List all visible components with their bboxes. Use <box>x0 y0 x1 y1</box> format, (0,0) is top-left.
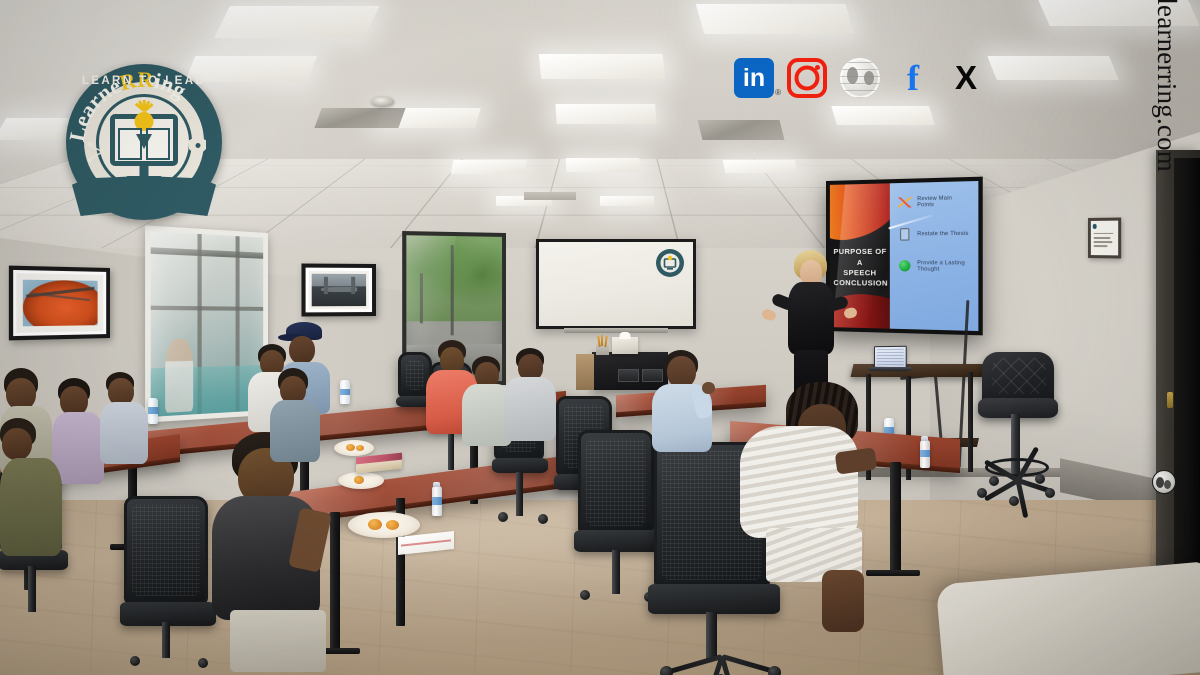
chart-icon <box>899 195 912 209</box>
bottle-cap <box>433 482 440 487</box>
aircraft-rotor <box>324 277 328 294</box>
slide-graphic-swoosh <box>830 183 890 245</box>
presenter <box>770 250 850 400</box>
ceiling-air-diffuser <box>524 192 576 200</box>
ceiling-light-panel <box>723 160 798 173</box>
linkedin-icon[interactable]: in ® <box>734 58 774 98</box>
chair-cylinder <box>612 550 620 594</box>
slide-bullet-text: Provide a Lasting Thought <box>917 260 971 273</box>
cabinet-side-panel <box>576 354 594 390</box>
student-hand <box>702 382 715 394</box>
snack-food <box>356 445 364 451</box>
snack-food <box>346 444 355 451</box>
water-bottle <box>432 486 442 516</box>
laptop-screen-content <box>877 349 904 365</box>
snack-food <box>354 476 364 484</box>
logo-watermark: LearneRRing LEARN TO LEAD <box>66 64 222 220</box>
ceiling-light-panel <box>987 56 1119 80</box>
bottle-cap <box>921 436 928 441</box>
chair-seat <box>492 458 548 473</box>
student-arm <box>835 447 878 474</box>
photo-image <box>23 280 98 327</box>
door[interactable] <box>1174 158 1200 596</box>
classroom-photo: PURPOSE OF A SPEECH CONCLUSION Review Ma… <box>0 0 1200 675</box>
student <box>100 372 152 466</box>
globe-landmass <box>847 67 858 84</box>
network-node-icon <box>86 140 106 164</box>
slide-bullet: Review Main Points <box>899 194 971 209</box>
water-bottle <box>920 440 930 468</box>
chair-cylinder <box>162 622 170 658</box>
paper-plate <box>348 512 420 538</box>
stool-base <box>975 474 1061 500</box>
student <box>270 368 324 464</box>
green-dot-icon <box>899 259 912 272</box>
slide-bullet-text: Review Main Points <box>917 194 971 208</box>
student-head <box>2 428 32 460</box>
cabinet-door[interactable] <box>618 369 639 382</box>
x-twitter-icon[interactable]: X <box>946 58 986 98</box>
document-icon <box>899 227 912 240</box>
snack-food <box>368 519 382 530</box>
chair-seat <box>574 530 660 552</box>
water-bottle <box>340 380 350 404</box>
ceiling-light-panel <box>539 54 666 79</box>
laptop-keyboard <box>869 367 912 371</box>
caster-wheel <box>538 514 548 524</box>
slide-bullet: Restate the Thesis <box>899 226 971 240</box>
ceiling-light-panel <box>451 160 527 174</box>
certificate-seal <box>1093 224 1096 229</box>
chair-cylinder <box>28 566 36 612</box>
whiteboard-marker-tray <box>564 328 669 333</box>
chair-mesh <box>586 438 646 526</box>
laptop <box>874 346 907 369</box>
social-icons-bar: in ® f X <box>734 58 986 98</box>
napkin-stripe <box>401 539 450 546</box>
website-watermark: www.learnerring.com <box>1151 0 1182 172</box>
logo-tagline: LEARN TO LEAD <box>66 75 222 87</box>
student-leg <box>822 570 864 632</box>
caster-wheel <box>977 488 987 498</box>
caster-wheel <box>989 476 999 486</box>
caster-wheel <box>198 658 208 668</box>
student <box>0 418 68 558</box>
quilted-upholstery <box>992 358 1046 394</box>
certificate-text-line <box>1094 246 1108 248</box>
ceiling-vent <box>314 108 405 128</box>
table-leg <box>890 462 901 574</box>
helicopter-photo <box>9 266 110 341</box>
snack-food <box>386 520 399 530</box>
chair-cylinder <box>448 430 454 470</box>
tissue-sheet <box>620 332 631 339</box>
aircraft-rotor <box>351 277 355 294</box>
photo-image <box>312 274 366 307</box>
ceiling-light-panel <box>696 4 855 34</box>
ceiling-light-panel <box>600 196 654 206</box>
certificate-frame <box>1088 217 1121 258</box>
student-torso <box>0 458 62 556</box>
ceiling-vent <box>698 120 785 140</box>
book-spine <box>136 134 152 149</box>
door-handle[interactable] <box>1167 392 1173 408</box>
paper-plate <box>338 472 384 489</box>
caster-wheel <box>1009 496 1019 506</box>
certificate-text-line <box>1094 237 1110 239</box>
caster-wheel <box>768 666 781 675</box>
open-book-icon <box>118 128 170 160</box>
chair-base <box>660 648 784 675</box>
ceiling-light-panel <box>555 104 656 124</box>
caster-wheel <box>660 666 673 675</box>
ceiling-light-panel <box>566 158 641 172</box>
linkedin-glyph: in <box>734 58 774 98</box>
desk-leg <box>968 372 973 472</box>
caster-wheel <box>580 590 590 600</box>
presenter-torso <box>788 282 834 354</box>
tissue-box <box>612 337 638 354</box>
student-torso <box>270 400 320 462</box>
caster-wheel <box>1045 488 1055 498</box>
chair-mesh <box>132 504 200 596</box>
tiltrotor-photo <box>301 263 376 316</box>
whiteboard-logo-icon <box>655 248 685 278</box>
chair-mesh <box>406 360 424 390</box>
caster-wheel <box>498 512 508 522</box>
pencil <box>601 335 603 346</box>
certificate-text-line <box>1094 232 1114 234</box>
globe-watermark-icon <box>1152 470 1176 494</box>
student-torso <box>740 426 858 538</box>
globe-icon[interactable] <box>840 58 880 98</box>
certificate-text-line <box>1094 241 1113 243</box>
pencil-cup <box>596 343 609 355</box>
student <box>736 382 886 632</box>
smoke-detector-icon <box>372 97 394 106</box>
globe-meridians <box>840 58 880 98</box>
chair-backrest <box>578 430 654 534</box>
instagram-icon[interactable] <box>787 58 827 98</box>
student <box>502 348 560 444</box>
caster-wheel <box>130 656 140 666</box>
whiteboard <box>536 239 696 329</box>
globe-landmass <box>864 71 874 85</box>
student-shorts <box>230 610 326 672</box>
caster-wheel <box>1035 474 1045 484</box>
chair-backrest <box>124 496 208 604</box>
ceiling-light-panel <box>831 106 935 125</box>
facebook-icon[interactable]: f <box>893 58 933 98</box>
student <box>212 432 342 672</box>
student-torso <box>100 402 148 464</box>
registered-mark: ® <box>775 88 781 97</box>
ceiling-light-panel <box>214 6 380 38</box>
student-torso <box>504 377 556 441</box>
slide-bullet-text: Restate the Thesis <box>917 230 968 237</box>
slide-bullet: Provide a Lasting Thought <box>899 259 971 273</box>
chair-cylinder <box>516 472 523 516</box>
student <box>646 350 726 470</box>
